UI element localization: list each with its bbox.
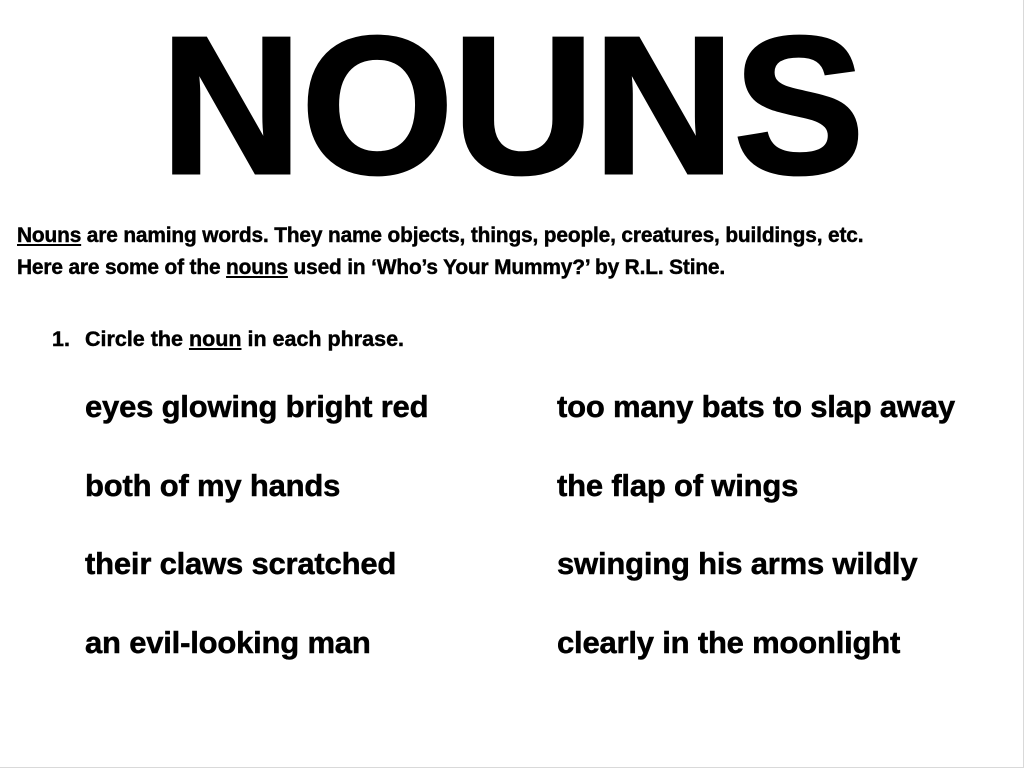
intro-line-1: Nouns are naming words. They name object…	[17, 219, 977, 251]
phrase-row: their claws scratched swinging his arms …	[0, 543, 1024, 622]
phrase-item[interactable]: an evil-looking man	[85, 622, 371, 664]
worksheet-slide: NOUNS Nouns are naming words. They name …	[0, 0, 1024, 768]
phrase-item[interactable]: too many bats to slap away	[557, 386, 955, 428]
instruction-text-before: Circle the	[85, 327, 189, 351]
instruction-keyword-noun: noun	[189, 327, 242, 351]
intro-paragraph: Nouns are naming words. They name object…	[17, 219, 977, 283]
phrase-item[interactable]: both of my hands	[85, 465, 340, 507]
phrase-row: an evil-looking man clearly in the moonl…	[0, 622, 1024, 701]
phrase-grid: eyes glowing bright red too many bats to…	[0, 386, 1024, 686]
instruction-item-1: 1.Circle the noun in each phrase.	[52, 326, 404, 352]
phrase-item[interactable]: swinging his arms wildly	[557, 543, 917, 585]
phrase-item[interactable]: the flap of wings	[557, 465, 798, 507]
intro-line-2-text-before: Here are some of the	[17, 255, 226, 279]
phrase-item[interactable]: eyes glowing bright red	[85, 386, 428, 428]
phrase-item[interactable]: their claws scratched	[85, 543, 396, 585]
phrase-item[interactable]: clearly in the moonlight	[557, 622, 900, 664]
instruction-number: 1.	[52, 326, 85, 352]
intro-line-2: Here are some of the nouns used in ‘Who’…	[17, 251, 977, 283]
intro-line-2-text-after: used in ‘Who’s Your Mummy?’ by R.L. Stin…	[288, 255, 725, 279]
phrase-row: eyes glowing bright red too many bats to…	[0, 386, 1024, 465]
phrase-row: both of my hands the flap of wings	[0, 465, 1024, 544]
intro-keyword-nouns: Nouns	[17, 223, 81, 247]
intro-line-1-text: are naming words. They name objects, thi…	[81, 223, 863, 247]
intro-keyword-nouns-2: nouns	[226, 255, 288, 279]
instruction-text-after: in each phrase.	[242, 327, 405, 351]
page-title: NOUNS	[0, 8, 1024, 204]
